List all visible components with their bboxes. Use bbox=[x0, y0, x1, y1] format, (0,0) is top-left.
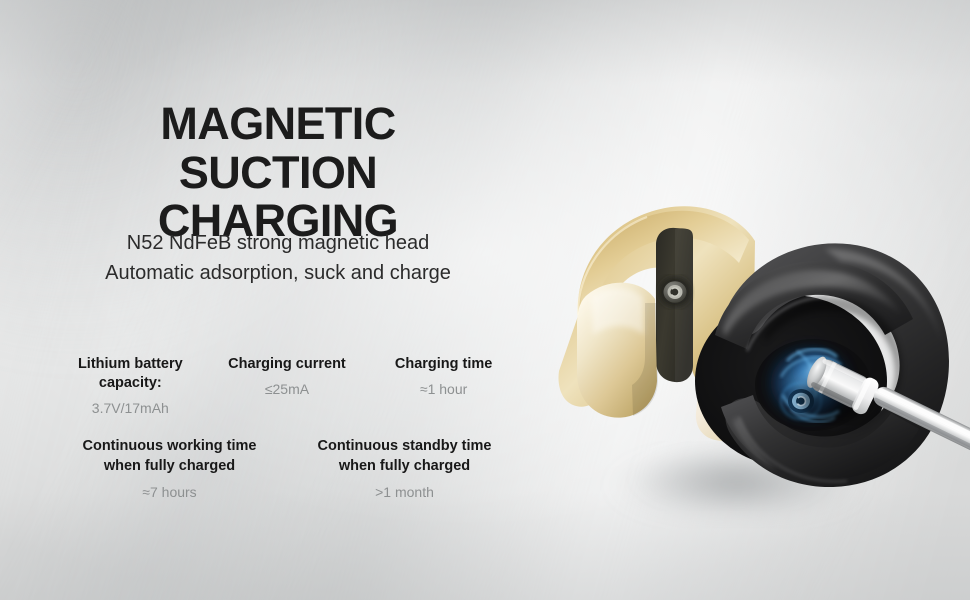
spec-label-line-2: when fully charged bbox=[289, 457, 520, 476]
spec-label-line-1: Charging time bbox=[367, 355, 520, 374]
page-title: MAGNETIC SUCTION CHARGING bbox=[58, 100, 498, 246]
spec-label-line-1: Lithium battery bbox=[54, 355, 207, 374]
spec-label-line-2: capacity: bbox=[54, 374, 207, 393]
spec-label-line-1: Continuous standby time bbox=[289, 437, 520, 456]
title-line-1: MAGNETIC SUCTION bbox=[160, 98, 395, 198]
spec-charging-current: Charging current ≤25mA bbox=[209, 355, 366, 417]
spec-battery-capacity-value: 3.7V/17mAh bbox=[54, 399, 207, 417]
gold-earbud-charging-port bbox=[659, 277, 691, 307]
copy-block: MAGNETIC SUCTION CHARGING N52 NdFeB stro… bbox=[0, 0, 540, 600]
spec-charging-time: Charging time ≈1 hour bbox=[365, 355, 522, 417]
promo-banner: MAGNETIC SUCTION CHARGING N52 NdFeB stro… bbox=[0, 0, 970, 600]
spec-table: Lithium battery capacity: 3.7V/17mAh Cha… bbox=[52, 355, 522, 501]
spec-standby-time-label: Continuous standby time when fully charg… bbox=[289, 437, 520, 475]
spec-charging-current-value: ≤25mA bbox=[211, 380, 364, 398]
spec-label-line-1: Charging current bbox=[211, 355, 364, 374]
spec-working-time-value: ≈7 hours bbox=[54, 483, 285, 501]
spec-charging-time-label: Charging time bbox=[367, 355, 520, 374]
spec-standby-time-value: >1 month bbox=[289, 483, 520, 501]
spec-label-line-2: when fully charged bbox=[54, 457, 285, 476]
spec-working-time: Continuous working time when fully charg… bbox=[52, 437, 287, 500]
spec-battery-capacity: Lithium battery capacity: 3.7V/17mAh bbox=[52, 355, 209, 417]
product-illustration bbox=[525, 185, 970, 545]
subtitle-line-2: Automatic adsorption, suck and charge bbox=[58, 258, 498, 288]
spec-charging-current-label: Charging current bbox=[211, 355, 364, 374]
spec-row-primary: Lithium battery capacity: 3.7V/17mAh Cha… bbox=[52, 355, 522, 417]
subtitle-line-1: N52 NdFeB strong magnetic head bbox=[58, 228, 498, 258]
spec-standby-time: Continuous standby time when fully charg… bbox=[287, 437, 522, 500]
spec-row-secondary: Continuous working time when fully charg… bbox=[52, 437, 522, 500]
spec-charging-time-value: ≈1 hour bbox=[367, 380, 520, 398]
spec-label-line-1: Continuous working time bbox=[54, 437, 285, 456]
spec-working-time-label: Continuous working time when fully charg… bbox=[54, 437, 285, 475]
subtitle: N52 NdFeB strong magnetic head Automatic… bbox=[58, 228, 498, 289]
spec-battery-capacity-label: Lithium battery capacity: bbox=[54, 355, 207, 393]
